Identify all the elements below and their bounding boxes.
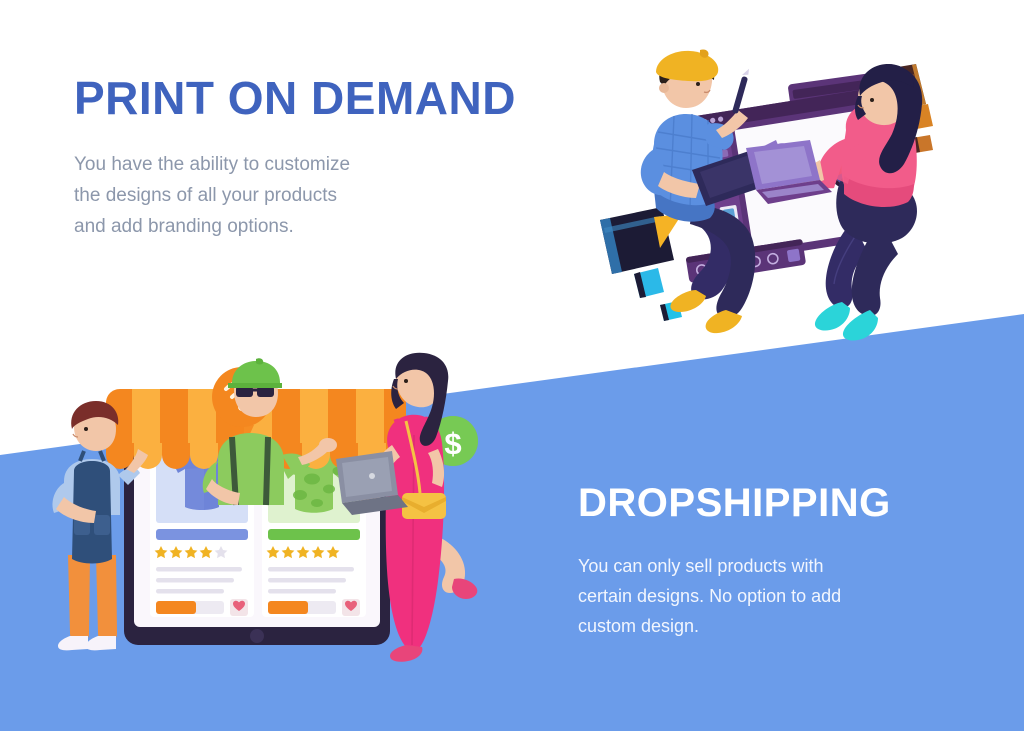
dollar-icon: $ [444,426,461,461]
stylus-pen [732,67,750,114]
print-on-demand-text-block: PRINT ON DEMAND You have the ability to … [74,74,554,243]
pod-body-line-1: You have the ability to customize [74,150,414,181]
dropshipping-title: DROPSHIPPING [578,482,978,524]
dropshipping-body: You can only sell products with certain … [578,552,918,642]
ds-body-line-3: custom design. [578,612,918,642]
laptop-logo [369,473,375,479]
product-title-bar-blue [156,529,248,540]
designers-working-illustration: Aa [596,52,996,342]
print-on-demand-body: You have the ability to customize the de… [74,150,414,242]
infographic-canvas: PRINT ON DEMAND You have the ability to … [0,0,1024,731]
online-storefront-illustration: $ [40,355,520,675]
print-on-demand-title: PRINT ON DEMAND [74,74,554,122]
shoulder-bag [402,493,446,519]
buy-button-blue[interactable] [156,601,196,614]
ds-body-line-1: You can only sell products with [578,552,918,582]
pod-body-line-2: the designs of all your products [74,181,414,212]
dropshipping-text-block: DROPSHIPPING You can only sell products … [578,482,978,642]
pod-body-line-3: and add branding options. [74,212,414,243]
floating-square-cyan-large [634,268,664,298]
product-title-bar-green [268,529,360,540]
apron-pocket-right [94,515,110,535]
buy-button-green[interactable] [268,601,308,614]
ds-body-line-2: certain designs. No option to add [578,582,918,612]
home-button [250,629,264,643]
